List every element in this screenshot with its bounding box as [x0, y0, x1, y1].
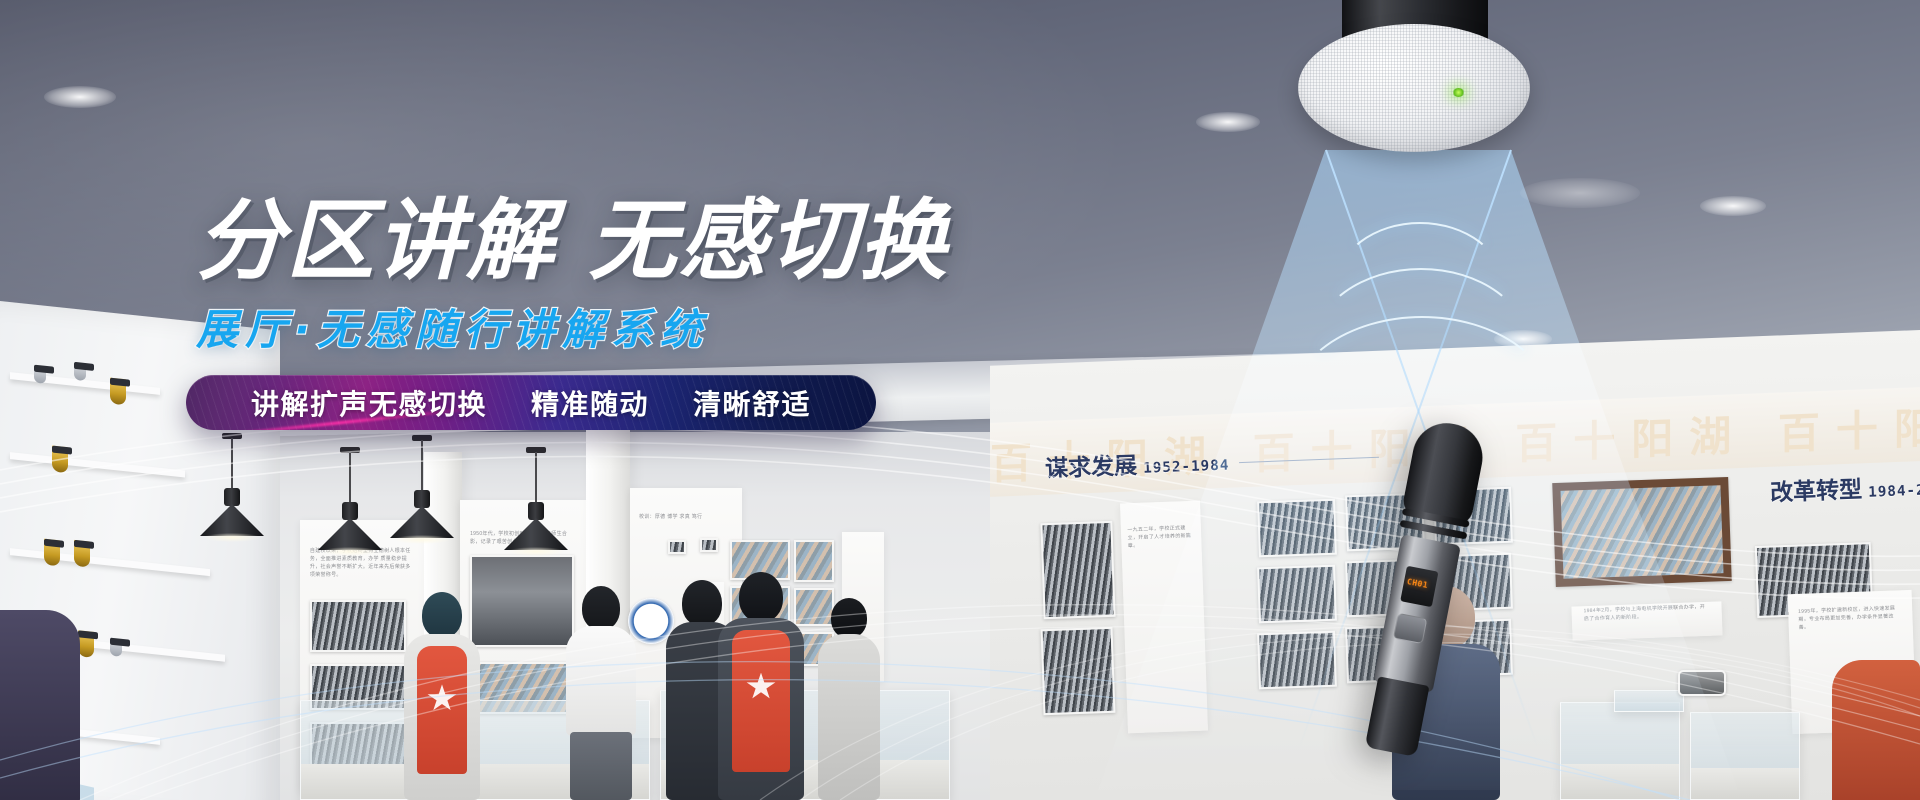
mic-grip [1365, 676, 1430, 757]
downlight-icon [44, 86, 116, 108]
exhibit-photo [700, 538, 718, 552]
volunteer-vest [732, 630, 790, 772]
visitor-head [422, 592, 462, 638]
trophy-icon [52, 421, 68, 474]
wall-title-1: 谋求发展1952-1984 [1044, 442, 1229, 483]
keyword-pill-banner: 讲解扩声无感切换 精准随动 清晰舒适 [186, 375, 876, 430]
wall-title-2-text: 改革转型 [1770, 476, 1863, 506]
visitor-body [566, 626, 636, 736]
visitor-head [831, 598, 867, 638]
wall-title-2: 改革转型1984-2010 [1769, 466, 1920, 507]
keyword-3: 清晰舒适 [693, 383, 811, 423]
downlight-icon [1520, 178, 1640, 208]
mic-display-text: CH01 [1406, 577, 1436, 591]
wall-title-1-text: 谋求发展 [1045, 452, 1138, 482]
visitor-cap [818, 598, 880, 800]
page-title: 分区讲解 无感切换 [196, 196, 1096, 286]
wall-title-2-years: 1984-2010 [1868, 481, 1920, 500]
trophy-icon [110, 353, 126, 406]
volunteer-vest [417, 646, 467, 774]
banner-stage: 自建校以来，学校始终坚持立德树人根本任务，全面推进素质教育，办学 质量稳步提升，… [0, 0, 1920, 800]
visitor-body [0, 610, 80, 800]
panel-text: 1995年，学校扩建新校区，进入快速发展期，专业布局更加完善，办学条件显著改善。 [1798, 604, 1903, 632]
exhibit-photo [668, 540, 686, 554]
ceiling-speaker [1298, 0, 1530, 174]
cabinet-shelf [10, 548, 210, 576]
visitor-red-vest-left [404, 592, 480, 800]
visitor-red-vest-right [718, 572, 804, 800]
visitor-head [739, 572, 783, 622]
trophy-icon [110, 613, 126, 658]
keyword-1: 讲解扩声无感切换 [251, 383, 487, 423]
visitor-far-right [1832, 660, 1920, 800]
exhibit-photo [1041, 627, 1116, 715]
trophy-icon [78, 605, 94, 658]
trophy-icon [44, 514, 60, 567]
vest-star-logo-icon [746, 673, 776, 701]
downlight-icon [1196, 112, 1260, 132]
trophy-icon [34, 340, 50, 385]
cabinet-shelf [10, 452, 185, 477]
mic-power-button[interactable] [1393, 613, 1427, 644]
visitor-legs [570, 732, 632, 800]
exhibit-photo [310, 600, 406, 652]
visitor-body [818, 634, 880, 800]
mic-display: CH01 [1400, 566, 1438, 607]
visitor-head [582, 586, 620, 630]
visitor-white-shirt [566, 586, 636, 800]
page-subtitle: 展厅·无感随行讲解系统 [196, 296, 1096, 357]
exhibit-photo [1040, 521, 1115, 619]
keyword-2: 精准随动 [531, 383, 649, 423]
trophy-icon [74, 515, 90, 568]
trophy-icon [74, 337, 90, 382]
downlight-icon [1700, 196, 1766, 216]
visitor-head [682, 580, 722, 626]
visitor-left-foreground [0, 610, 80, 800]
panel-text: 校训：厚德 博学 求真 笃行 [639, 513, 733, 521]
vest-star-logo-icon [427, 684, 457, 712]
exhibit-photo-portrait [470, 555, 574, 647]
speaker-status-led-icon [1452, 88, 1465, 97]
headline-block: 分区讲解 无感切换 展厅·无感随行讲解系统 [196, 196, 1096, 357]
visitor-body [1832, 660, 1920, 800]
speaker-grille [1298, 24, 1530, 152]
